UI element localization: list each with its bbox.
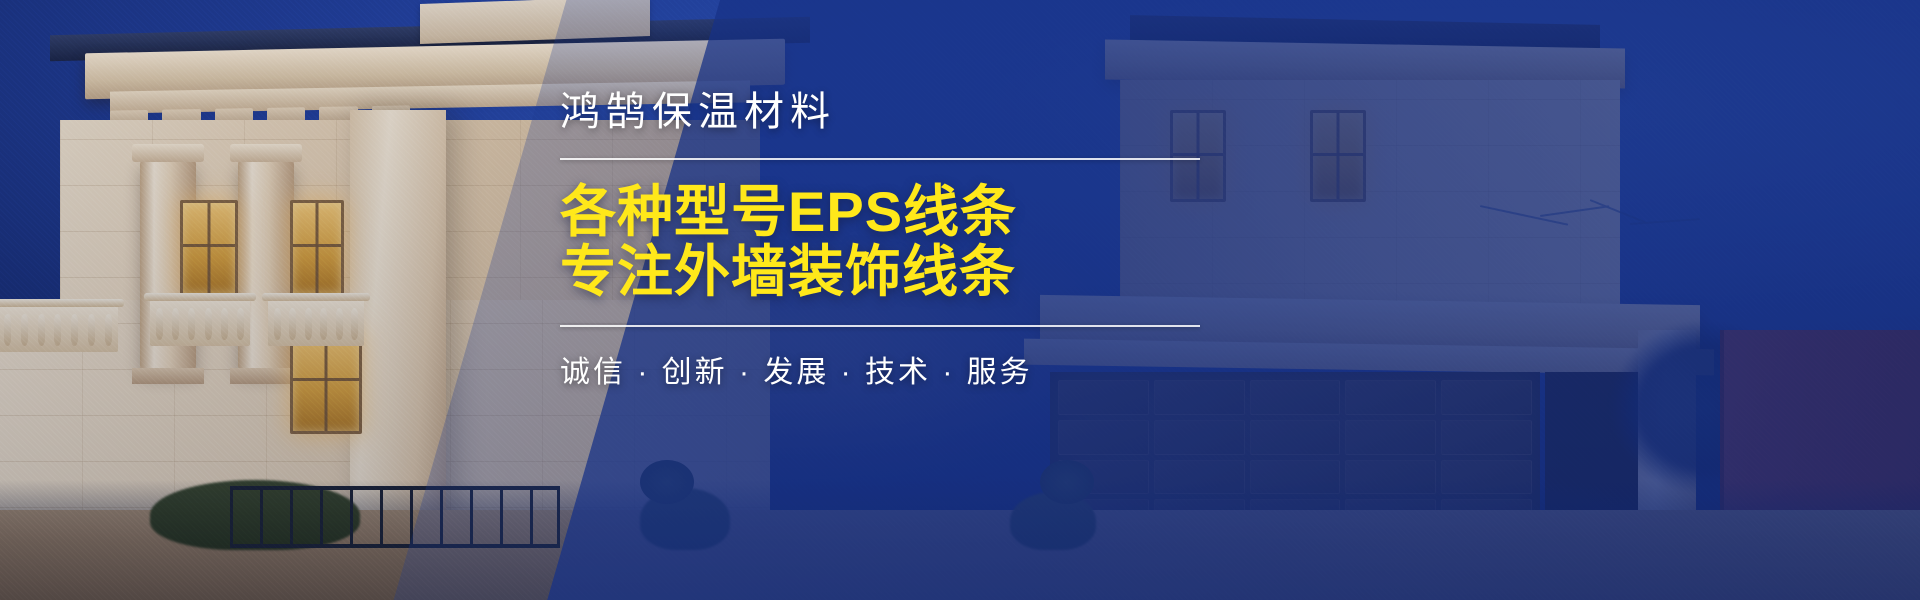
- headline-line-2: 专注外墙装饰线条: [560, 242, 1200, 302]
- headline-line-1: 各种型号EPS线条: [560, 182, 1200, 242]
- banner-copy: 鸿鹄保温材料 各种型号EPS线条 专注外墙装饰线条 诚信 · 创新 · 发展 ·…: [560, 92, 1200, 391]
- divider-bottom: [560, 325, 1200, 327]
- tagline: 诚信 · 创新 · 发展 · 技术 · 服务: [560, 347, 1200, 391]
- brand-name: 鸿鹄保温材料: [560, 92, 1200, 132]
- hero-banner: 鸿鹄保温材料 各种型号EPS线条 专注外墙装饰线条 诚信 · 创新 · 发展 ·…: [0, 0, 1920, 600]
- divider-top: [560, 158, 1200, 160]
